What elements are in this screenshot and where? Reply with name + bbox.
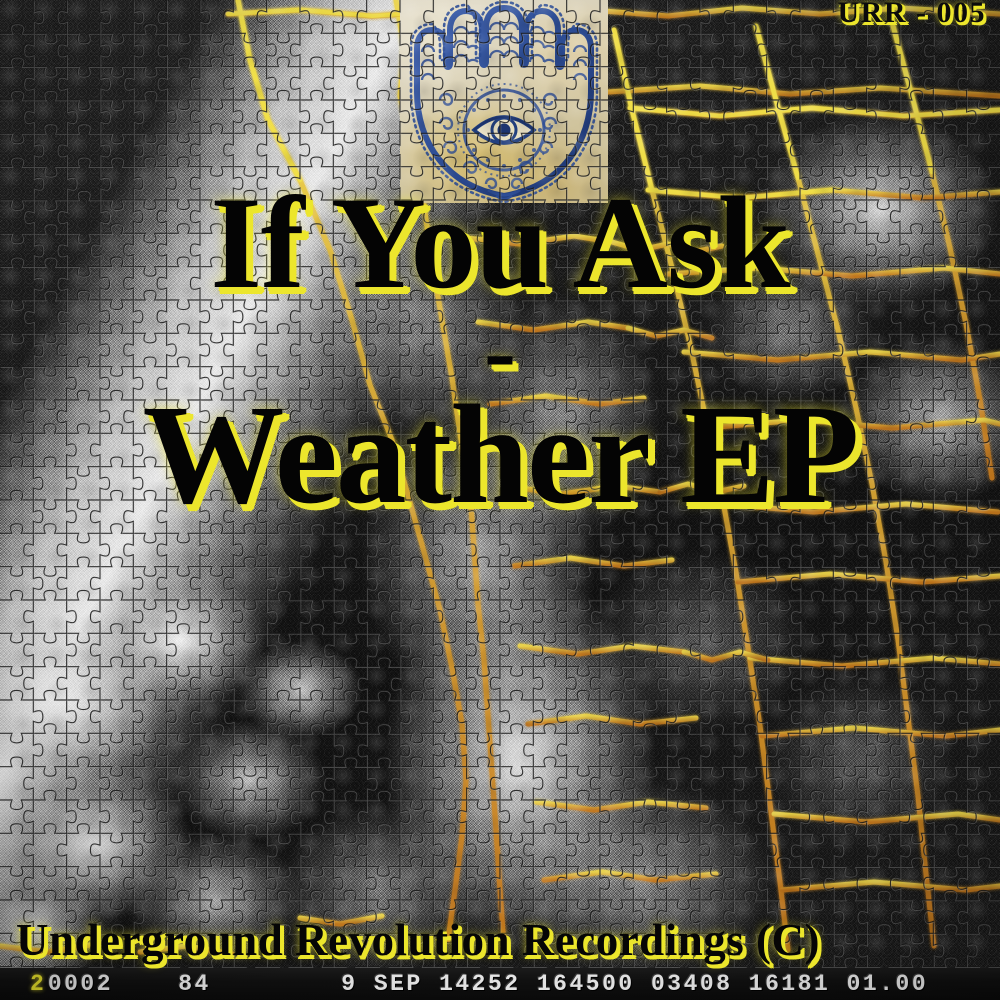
label-credit: Underground Revolution Recordings (C) (16, 914, 820, 966)
telemetry-data-line: 0002 84 9 SEP 14252 164500 03408 16181 0… (48, 971, 928, 997)
album-title-line-2: Weather EP (0, 386, 1000, 522)
catalog-number: URR - 005 (838, 0, 987, 30)
title-block: If You Ask - Weather EP (0, 180, 1000, 522)
telemetry-lead-digit: 2 (30, 971, 44, 997)
satellite-telemetry-strip: 2 0002 84 9 SEP 14252 164500 03408 16181… (0, 968, 1000, 1000)
album-title-line-1: If You Ask (0, 180, 1000, 307)
eye-icon (474, 117, 534, 143)
album-cover: URR - 005 If You Ask - Weather EP Underg… (0, 0, 1000, 1000)
title-separator: - (0, 325, 1000, 378)
